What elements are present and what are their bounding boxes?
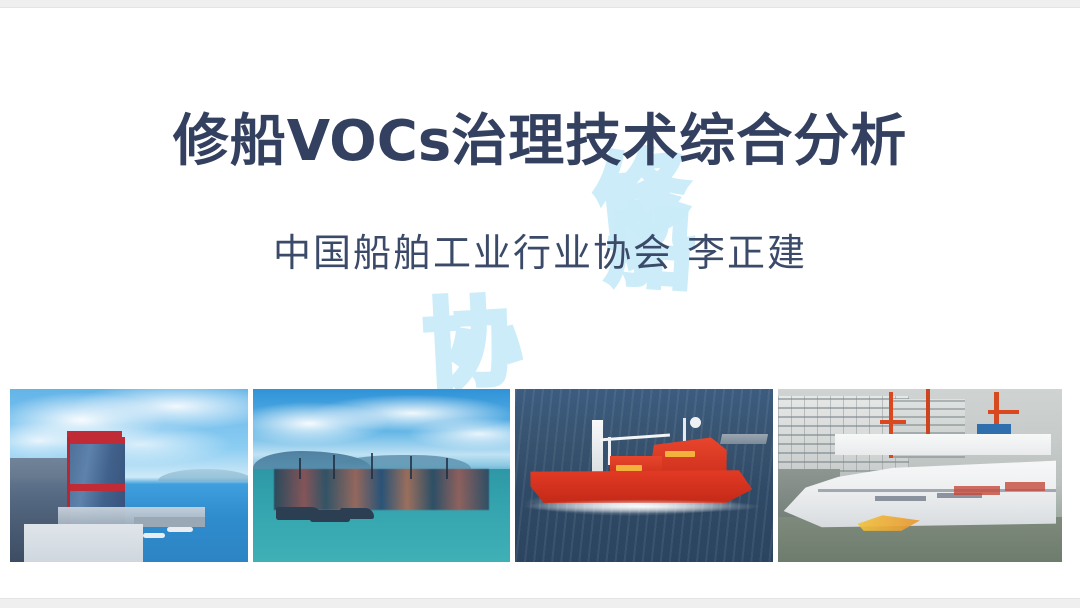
cruise-ship-superstructure	[835, 434, 1051, 455]
deck-window	[616, 465, 642, 471]
funnel	[592, 420, 602, 477]
foreground-buildings	[24, 524, 143, 562]
slide-title: 修船VOCs治理技术综合分析	[0, 96, 1080, 177]
gantry-crane-arm	[988, 410, 1019, 414]
slide-subtitle: 中国船舶工业行业协会 李正建	[0, 222, 1080, 277]
presentation-slide: 修 船 协 修船VOCs治理技术综合分析 中国船舶工业行业协会 李正建	[0, 0, 1080, 608]
photo-shipyard-aerial	[253, 389, 510, 562]
photo-red-offshore-vessel	[515, 389, 773, 562]
top-chrome-band	[0, 0, 1080, 8]
lifeboat-band	[1005, 482, 1045, 491]
watermark-glyph-3-icon: 协	[422, 294, 523, 395]
bottom-chrome-band	[0, 598, 1080, 608]
ship-mast	[333, 455, 335, 479]
photo-coastal-city-harbor	[10, 389, 248, 562]
cabin-windows	[875, 496, 926, 501]
bridge-window	[665, 451, 695, 457]
ship-mast	[371, 453, 373, 479]
moored-ship	[340, 508, 374, 519]
radar-mast	[683, 418, 686, 440]
slide-title-suffix: 治理技术综合分析	[451, 108, 907, 174]
ship-mast	[410, 456, 412, 478]
harbor-boat	[167, 527, 193, 532]
pier	[134, 517, 205, 527]
gantry-crane-mast	[926, 389, 930, 434]
vessel-cluster	[274, 469, 490, 511]
photo-strip	[10, 389, 1062, 562]
slide-title-latin: VOCs	[287, 109, 451, 174]
helideck	[720, 434, 769, 444]
gantry-crane-arm	[880, 420, 906, 424]
slide-title-prefix: 修船	[173, 108, 287, 174]
ship-mast	[299, 458, 301, 479]
sea-foam	[523, 498, 760, 515]
photo-cruise-ship-at-yard	[778, 389, 1062, 562]
harbor-boat	[143, 533, 165, 538]
lifeboat-band	[954, 486, 999, 495]
ship-mast	[446, 458, 448, 479]
